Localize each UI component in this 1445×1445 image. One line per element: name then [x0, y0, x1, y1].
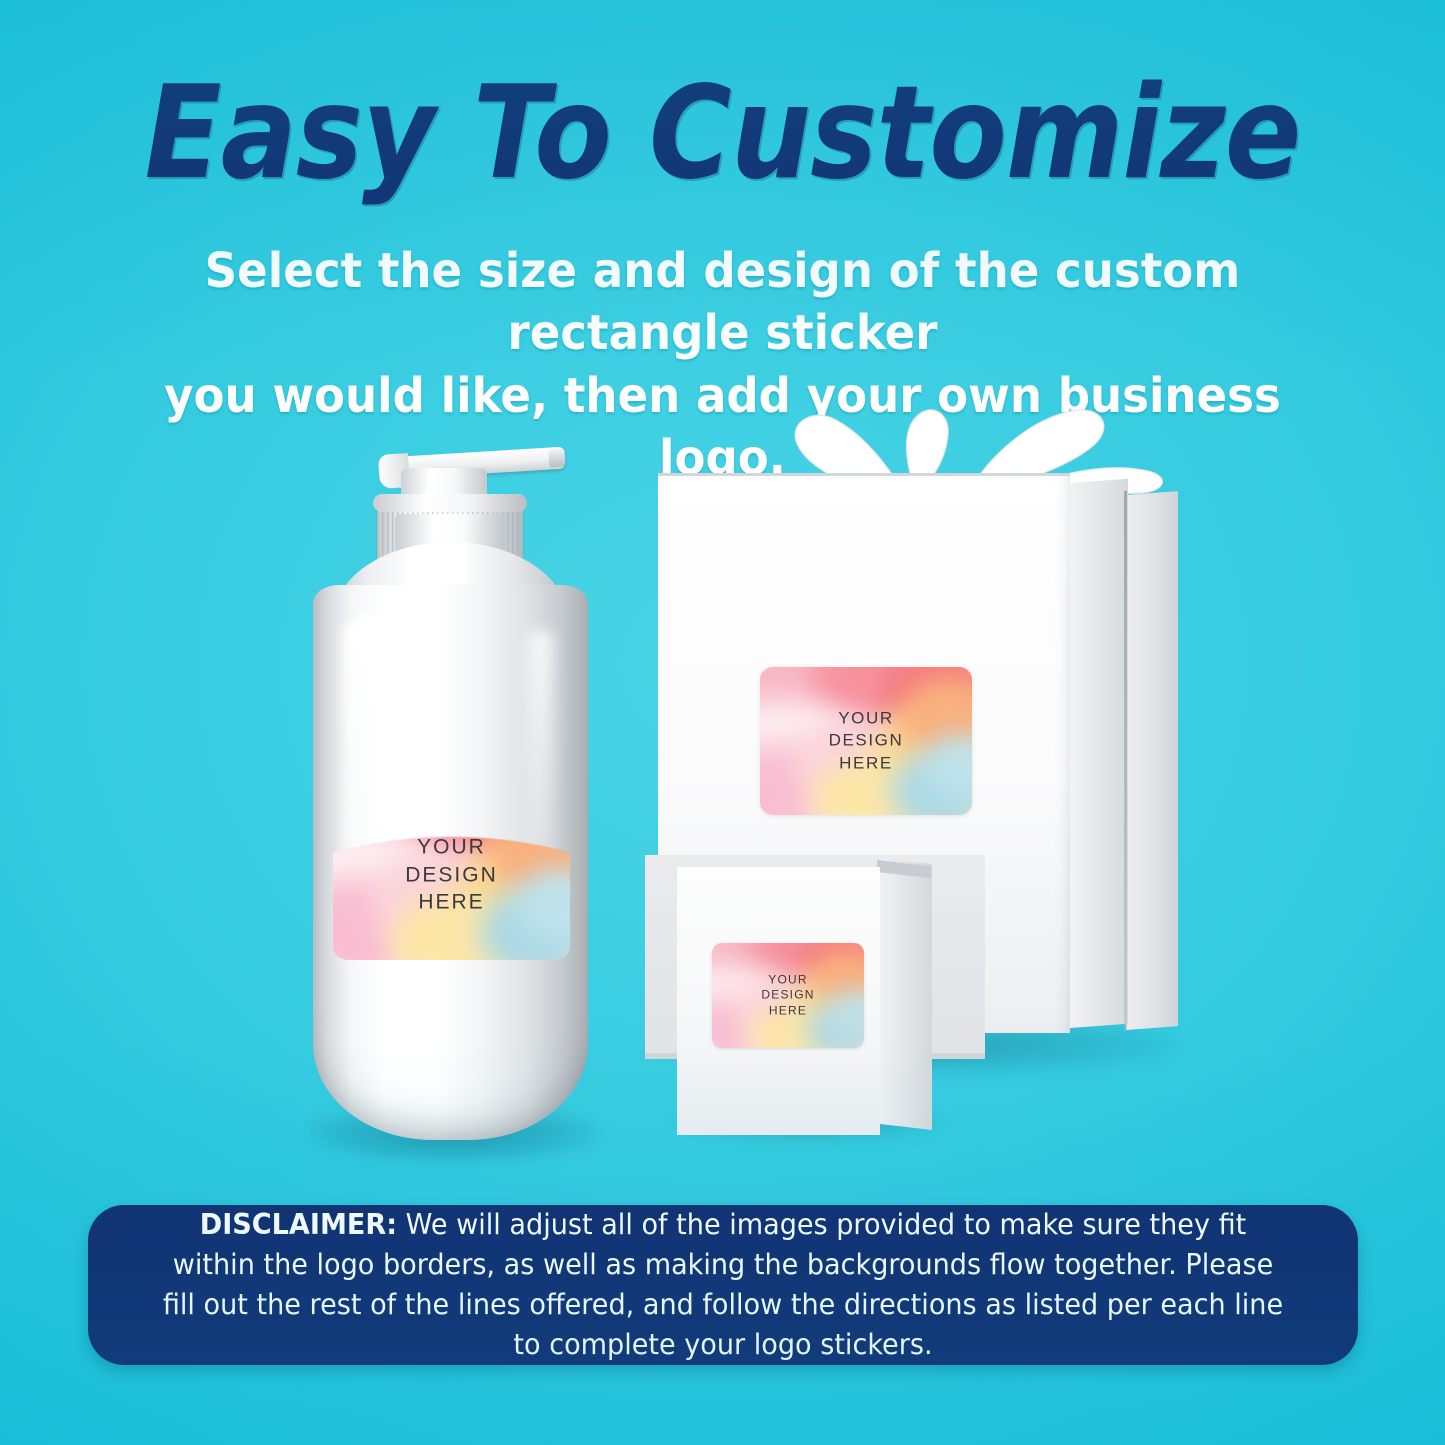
bottle-sticker-label[interactable]: YOUR DESIGN HERE [333, 790, 570, 960]
sticker-line-3: HERE [760, 752, 972, 774]
gift-box-lid-line [658, 473, 1070, 476]
sticker-text: YOUR DESIGN HERE [760, 707, 972, 774]
pump-bottle-mockup: YOUR DESIGN HERE [295, 430, 605, 1170]
gift-box-sticker-label[interactable]: YOUR DESIGN HERE [760, 667, 972, 815]
small-box-sticker-label[interactable]: YOUR DESIGN HERE [712, 943, 864, 1048]
disclaimer-banner: DISCLAIMER: We will adjust all of the im… [88, 1205, 1358, 1365]
sticker-line-2: DESIGN [333, 861, 570, 889]
small-cube-box-mockup: YOUR DESIGN HERE [665, 855, 965, 1155]
sticker-line-1: YOUR [760, 707, 972, 729]
subtitle-line-1: Select the size and design of the custom… [109, 240, 1336, 365]
sticker-line-3: HERE [712, 1003, 864, 1019]
disclaimer-text: DISCLAIMER: We will adjust all of the im… [156, 1205, 1290, 1365]
small-box-side-panel [880, 858, 932, 1130]
page-title: Easy To Customize [87, 70, 1359, 198]
gift-box-lid-side [1126, 491, 1178, 1030]
poster-canvas: Easy To Customize Select the size and de… [0, 0, 1445, 1445]
sticker-text: YOUR DESIGN HERE [712, 972, 864, 1019]
disclaimer-label: DISCLAIMER: [200, 1208, 397, 1241]
sticker-line-1: YOUR [712, 972, 864, 988]
gift-box-seam [1124, 491, 1127, 1031]
pump-collar-lip [373, 494, 527, 512]
sticker-text: YOUR DESIGN HERE [333, 833, 570, 916]
sticker-line-3: HERE [333, 889, 570, 917]
sticker-line-2: DESIGN [760, 730, 972, 752]
gift-box-side-panel [1070, 479, 1128, 1028]
sticker-line-1: YOUR [333, 833, 570, 861]
sticker-line-2: DESIGN [712, 988, 864, 1004]
